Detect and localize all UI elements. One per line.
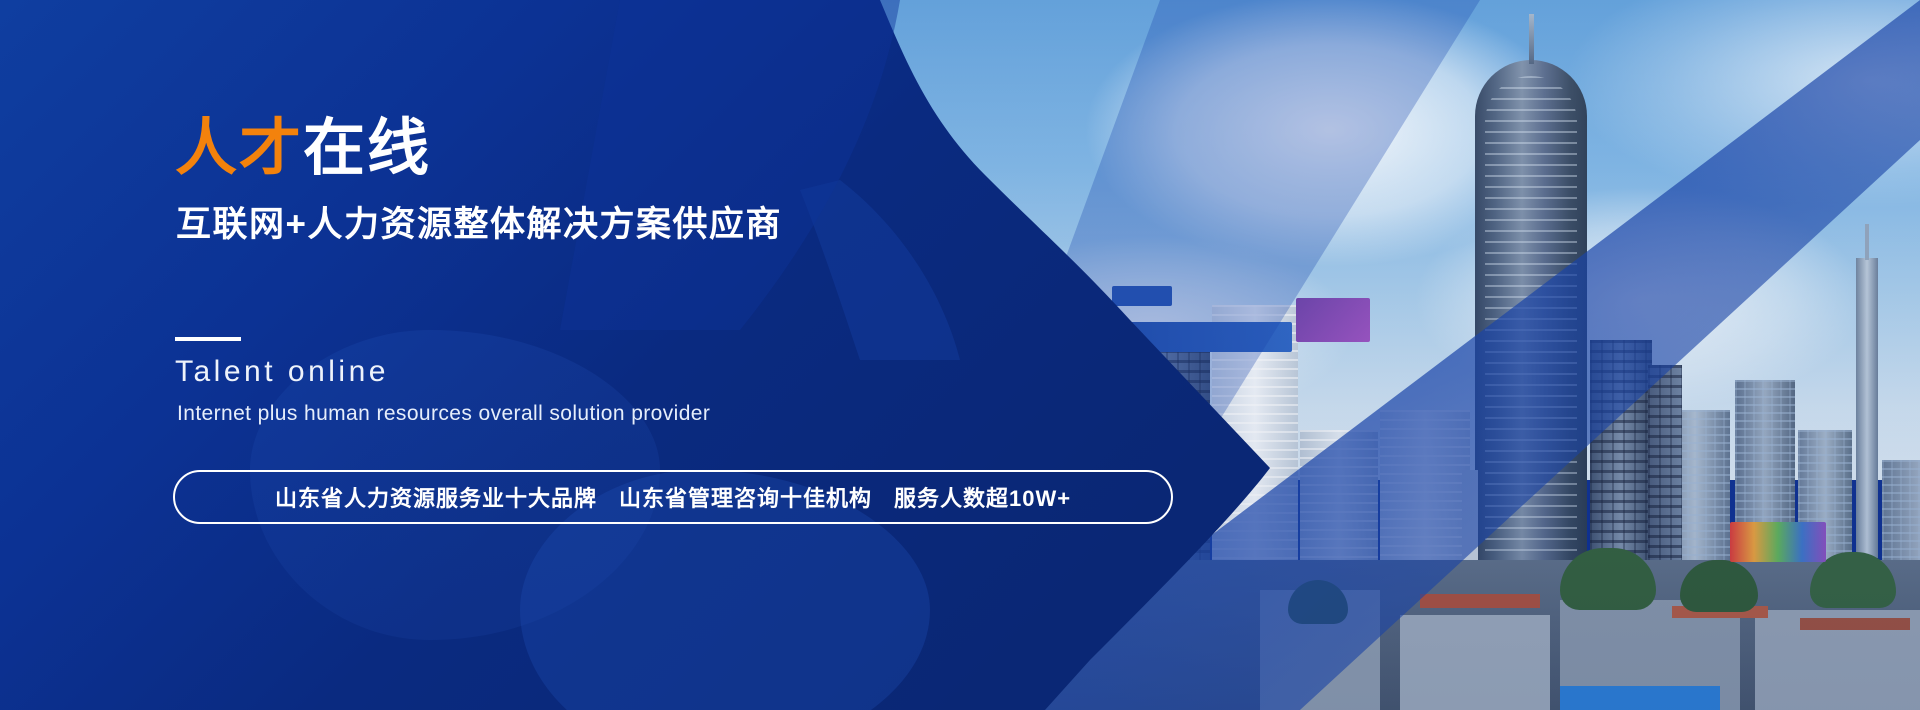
badge-item-3: 服务人数超10W+ <box>894 481 1071 513</box>
badge-item-1: 山东省人力资源服务业十大品牌 <box>275 481 597 513</box>
page-subtitle: 互联网+人力资源整体解决方案供应商 <box>176 196 782 247</box>
title-accent: 人才 <box>175 114 303 183</box>
credentials-pill: 山东省人力资源服务业十大品牌 山东省管理咨询十佳机构 服务人数超10W+ <box>173 470 1173 524</box>
english-subtitle: Internet plus human resources overall so… <box>177 402 710 426</box>
title-plain: 在线 <box>303 114 431 183</box>
page-title: 人才在线 <box>175 118 431 180</box>
hero-banner: 人才在线 互联网+人力资源整体解决方案供应商 Talent online Int… <box>0 0 1920 710</box>
divider <box>175 337 241 341</box>
banner-content: 人才在线 互联网+人力资源整体解决方案供应商 Talent online Int… <box>0 0 1100 710</box>
english-title: Talent online <box>175 355 389 389</box>
badge-item-2: 山东省管理咨询十佳机构 <box>619 481 872 513</box>
